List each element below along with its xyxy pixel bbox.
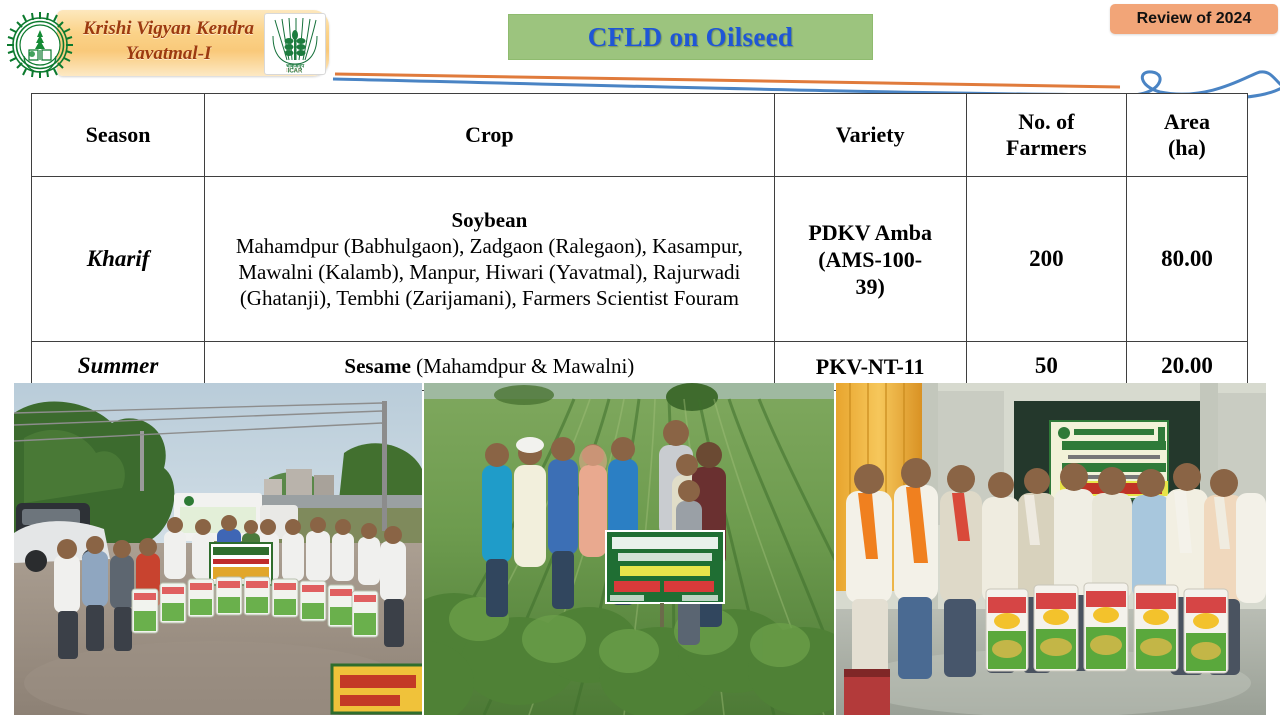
icar-logo-box: भाकृअनुप ICAR (264, 13, 326, 75)
column-header-variety: Variety (774, 94, 966, 177)
review-badge: Review of 2024 (1110, 4, 1278, 34)
cell-season-kharif: Kharif (32, 177, 205, 342)
column-header-area: Area (ha) (1126, 94, 1247, 177)
kvk-name-text: Krishi Vigyan Kendra Yavatmal-I (81, 16, 256, 66)
cell-area-kharif: 80.00 (1126, 177, 1247, 342)
crop-name-kharif: Soybean (209, 207, 769, 233)
variety-kharif-line3: 39) (779, 273, 962, 300)
photo-seed-distribution-indoor (836, 383, 1266, 715)
column-header-crop: Crop (205, 94, 774, 177)
icar-shadow-label: ICAR (264, 68, 324, 74)
crop-sites-summer: (Mahamdpur & Mawalni) (416, 354, 634, 378)
column-header-area-line1: Area (1131, 109, 1243, 135)
page-title: CFLD on Oilseed (588, 22, 794, 53)
crop-sites-kharif: Mahamdpur (Babhulgaon), Zadgaon (Ralegao… (209, 233, 769, 311)
icar-logo-icon: भाकृअनुप ICAR (265, 14, 325, 74)
cell-farmers-kharif: 200 (966, 177, 1126, 342)
cell-crop-kharif: Soybean Mahamdpur (Babhulgaon), Zadgaon … (205, 177, 774, 342)
slide-root: Krishi Vigyan Kendra Yavatmal-I (0, 0, 1280, 720)
kvk-name-line2: Yavatmal-I (81, 41, 256, 66)
cfld-oilseed-table: Season Crop Variety No. of Farmers Area … (31, 93, 1248, 391)
kvk-emblem-icon (6, 10, 74, 80)
kvk-identity-badge: Krishi Vigyan Kendra Yavatmal-I (3, 6, 331, 78)
photo-1-graphic (14, 383, 422, 715)
crop-name-summer: Sesame (344, 354, 411, 378)
column-header-farmers-line2: Farmers (971, 135, 1122, 161)
column-header-farmers: No. of Farmers (966, 94, 1126, 177)
photo-soybean-demonstration-plot (424, 383, 834, 715)
photo-3-graphic (836, 383, 1266, 715)
variety-kharif-line1: PDKV Amba (779, 219, 962, 246)
cell-variety-kharif: PDKV Amba (AMS-100- 39) (774, 177, 966, 342)
table-row: Kharif Soybean Mahamdpur (Babhulgaon), Z… (32, 177, 1248, 342)
photo-field-day-input-distribution (14, 383, 422, 715)
photo-2-graphic (424, 383, 834, 715)
kvk-name-line1: Krishi Vigyan Kendra (81, 16, 256, 41)
column-header-area-line2: (ha) (1131, 135, 1243, 161)
column-header-farmers-line1: No. of (971, 109, 1122, 135)
review-badge-label: Review of 2024 (1137, 10, 1252, 28)
variety-kharif-line2: (AMS-100- (779, 246, 962, 273)
column-header-season: Season (32, 94, 205, 177)
table-header-row: Season Crop Variety No. of Farmers Area … (32, 94, 1248, 177)
photo-strip (14, 383, 1266, 715)
